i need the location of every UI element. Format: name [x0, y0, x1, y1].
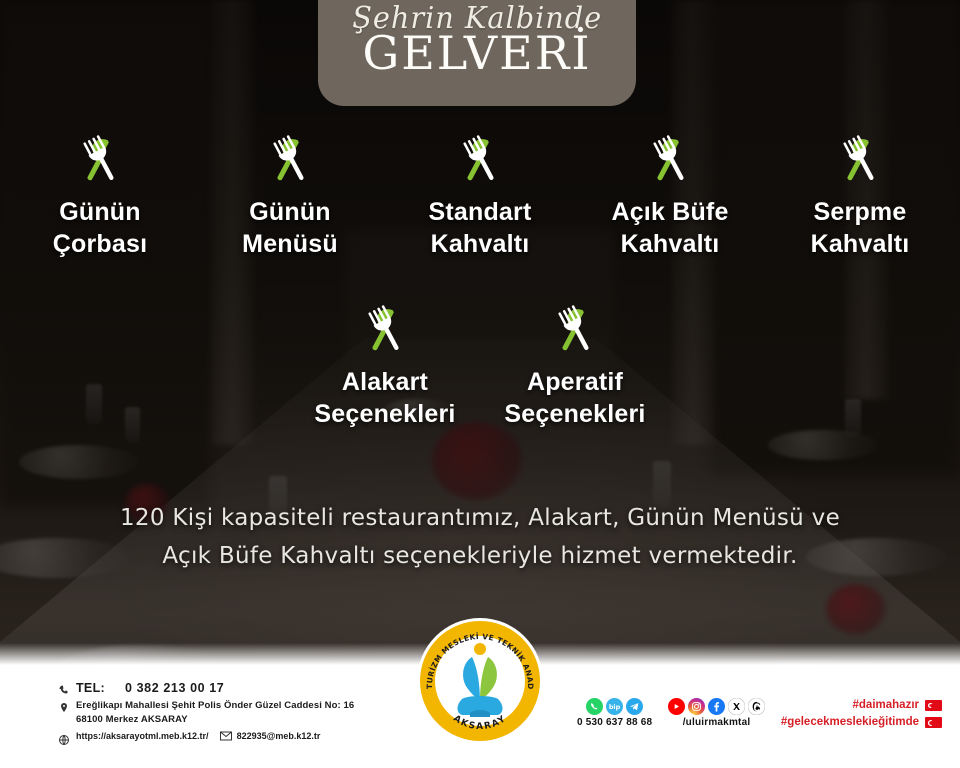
fork-and-knife-leaf-icon	[263, 132, 317, 186]
service-item: Alakart Seçenekleri	[290, 302, 480, 430]
fork-and-knife-leaf-icon	[548, 302, 602, 356]
services-row-primary: Günün ÇorbasıGünün MenüsüStandart Kahval…	[0, 132, 960, 260]
brand-name: GELVERİ	[362, 30, 591, 76]
footer-bar: TEL: 0 382 213 00 17 Ereğlikapı Mahalles…	[0, 665, 960, 768]
restaurant-promo-poster: Şehrin Kalbinde GELVERİ Günün ÇorbasıGün…	[0, 0, 960, 768]
whatsapp-icon[interactable]	[586, 698, 603, 715]
facebook-icon[interactable]	[708, 698, 725, 715]
address-text: Ereğlikapı Mahallesi Şehit Polis Önder G…	[76, 699, 354, 727]
hashtag-line: #daimahazır	[781, 697, 942, 714]
envelope-icon	[220, 731, 232, 741]
service-item: Günün Çorbası	[5, 132, 195, 260]
fork-and-knife-leaf-icon	[833, 132, 887, 186]
service-label: Açık Büfe Kahvaltı	[611, 196, 728, 260]
messaging-icon-row: bip	[577, 698, 652, 715]
hashtag-daimahazir: #daimahazır	[853, 697, 919, 714]
service-item: Açık Büfe Kahvaltı	[575, 132, 765, 260]
telephone-icon	[58, 683, 70, 695]
contact-block: TEL: 0 382 213 00 17 Ereğlikapı Mahalles…	[58, 681, 354, 749]
threads-icon[interactable]	[748, 698, 765, 715]
school-seal-logo: ULUIRMAK TURİZM MESLEKİ VE TEKNİK ANADOL…	[412, 613, 548, 749]
telegram-icon[interactable]	[626, 698, 643, 715]
service-label: Günün Çorbası	[53, 196, 147, 260]
service-label: Aperatif Seçenekleri	[504, 366, 645, 430]
capacity-description: 120 Kişi kapasiteli restaurantımız, Alak…	[110, 500, 850, 576]
service-label: Alakart Seçenekleri	[314, 366, 455, 430]
hashtag-gelecekmeslekiegitimde: #gelecekmeslekieğitimde	[781, 714, 919, 731]
social-handle[interactable]: /uluirmakmtal	[668, 717, 765, 728]
website-url[interactable]: https://aksarayotml.meb.k12.tr/	[76, 731, 209, 741]
youtube-icon[interactable]	[668, 698, 685, 715]
fork-and-knife-leaf-icon	[643, 132, 697, 186]
globe-icon	[58, 733, 70, 745]
telephone-number[interactable]: 0 382 213 00 17	[125, 681, 224, 695]
fork-and-knife-leaf-icon	[453, 132, 507, 186]
whatsapp-number[interactable]: 0 530 637 88 68	[577, 717, 652, 728]
web-line: https://aksarayotml.meb.k12.tr/ 822935@m…	[58, 731, 354, 745]
hashtag-line: #gelecekmeslekieğitimde	[781, 714, 942, 731]
service-item: Günün Menüsü	[195, 132, 385, 260]
service-label: Serpme Kahvaltı	[811, 196, 910, 260]
service-item: Aperatif Seçenekleri	[480, 302, 670, 430]
social-icon-row	[668, 698, 765, 715]
telephone-line: TEL: 0 382 213 00 17	[58, 681, 354, 695]
brand-logo-banner: Şehrin Kalbinde GELVERİ	[318, 0, 636, 106]
service-item: Standart Kahvaltı	[385, 132, 575, 260]
instagram-icon[interactable]	[688, 698, 705, 715]
telephone-label: TEL:	[76, 681, 105, 695]
location-pin-icon	[58, 701, 70, 713]
bip-icon[interactable]: bip	[606, 698, 623, 715]
messaging-block: bip 0 530 637 88 68	[577, 698, 652, 728]
brand-script-text: Şehrin Kalbinde	[352, 4, 602, 34]
email-address[interactable]: 822935@meb.k12.tr	[237, 731, 321, 741]
service-label: Günün Menüsü	[242, 196, 338, 260]
turkish-flag-icon	[925, 717, 942, 728]
service-label: Standart Kahvaltı	[428, 196, 531, 260]
web-row: https://aksarayotml.meb.k12.tr/ 822935@m…	[76, 731, 320, 741]
fork-and-knife-leaf-icon	[73, 132, 127, 186]
x-icon[interactable]	[728, 698, 745, 715]
hashtag-block: #daimahazır #gelecekmeslekieğitimde	[781, 697, 942, 732]
address-line: Ereğlikapı Mahallesi Şehit Polis Önder G…	[58, 699, 354, 727]
turkish-flag-icon	[925, 700, 942, 711]
fork-and-knife-leaf-icon	[358, 302, 412, 356]
service-item: Serpme Kahvaltı	[765, 132, 955, 260]
svg-text:bip: bip	[609, 703, 621, 711]
social-block: /uluirmakmtal	[668, 698, 765, 728]
services-row-secondary: Alakart SeçenekleriAperatif Seçenekleri	[0, 302, 960, 430]
